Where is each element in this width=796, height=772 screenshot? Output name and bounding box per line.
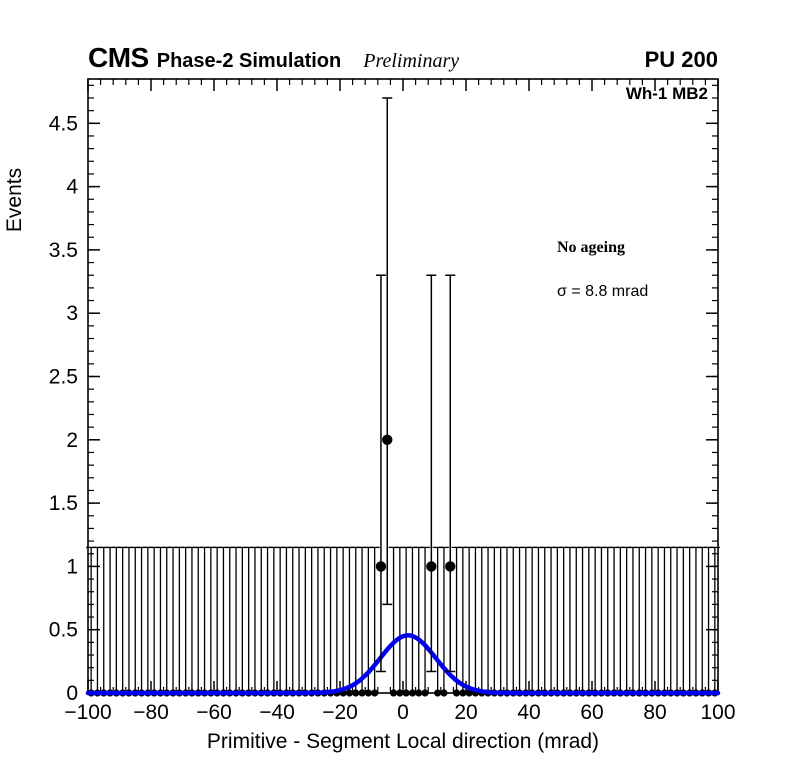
data-point-marker — [382, 435, 392, 445]
empty-bin-marker — [358, 689, 365, 696]
empty-bin-marker — [421, 689, 428, 696]
empty-bin-marker — [346, 689, 353, 696]
x-tick-label: 60 — [580, 701, 603, 724]
x-tick-label: 100 — [700, 701, 735, 724]
y-tick-label: 4.5 — [49, 112, 78, 135]
empty-bin-marker — [459, 689, 466, 696]
empty-bin-marker — [415, 689, 422, 696]
x-tick-label: −20 — [322, 701, 358, 724]
x-tick-label: −40 — [259, 701, 295, 724]
y-tick-label: 0.5 — [49, 619, 78, 642]
empty-bin-marker — [371, 689, 378, 696]
y-tick-label: 1.5 — [49, 492, 78, 515]
scatter-plot: −100−80−60−40−2002040608010000.511.522.5… — [0, 0, 796, 772]
empty-bin-error-bars — [86, 547, 720, 696]
data-point-marker — [376, 561, 386, 571]
y-tick-label: 2.5 — [49, 366, 78, 389]
empty-bin-marker — [390, 689, 397, 696]
empty-bin-marker — [396, 689, 403, 696]
y-tick-label: 3.5 — [49, 239, 78, 262]
empty-bin-marker — [453, 689, 460, 696]
plot-canvas: CMS Phase-2 Simulation Preliminary PU 20… — [0, 0, 796, 772]
empty-bin-marker — [409, 689, 416, 696]
x-tick-label: −80 — [133, 701, 169, 724]
empty-bin-marker — [403, 689, 410, 696]
empty-bin-marker — [365, 689, 372, 696]
y-tick-label: 3 — [66, 302, 78, 325]
x-tick-label: −60 — [196, 701, 232, 724]
empty-bin-marker — [434, 689, 441, 696]
axis-ticks — [88, 79, 718, 693]
empty-bin-marker — [440, 689, 447, 696]
y-tick-label: 1 — [66, 555, 78, 578]
x-tick-label: 80 — [643, 701, 666, 724]
data-point-marker — [445, 561, 455, 571]
axis-frame — [88, 79, 718, 693]
x-tick-label: 20 — [454, 701, 477, 724]
x-tick-label: 40 — [517, 701, 540, 724]
data-point-marker — [426, 561, 436, 571]
y-tick-label: 2 — [66, 429, 78, 452]
x-tick-label: 0 — [397, 701, 409, 724]
y-tick-label: 4 — [66, 176, 78, 199]
y-tick-label: 0 — [66, 682, 78, 705]
empty-bin-marker — [352, 689, 359, 696]
axis-frame-rect — [88, 79, 718, 693]
